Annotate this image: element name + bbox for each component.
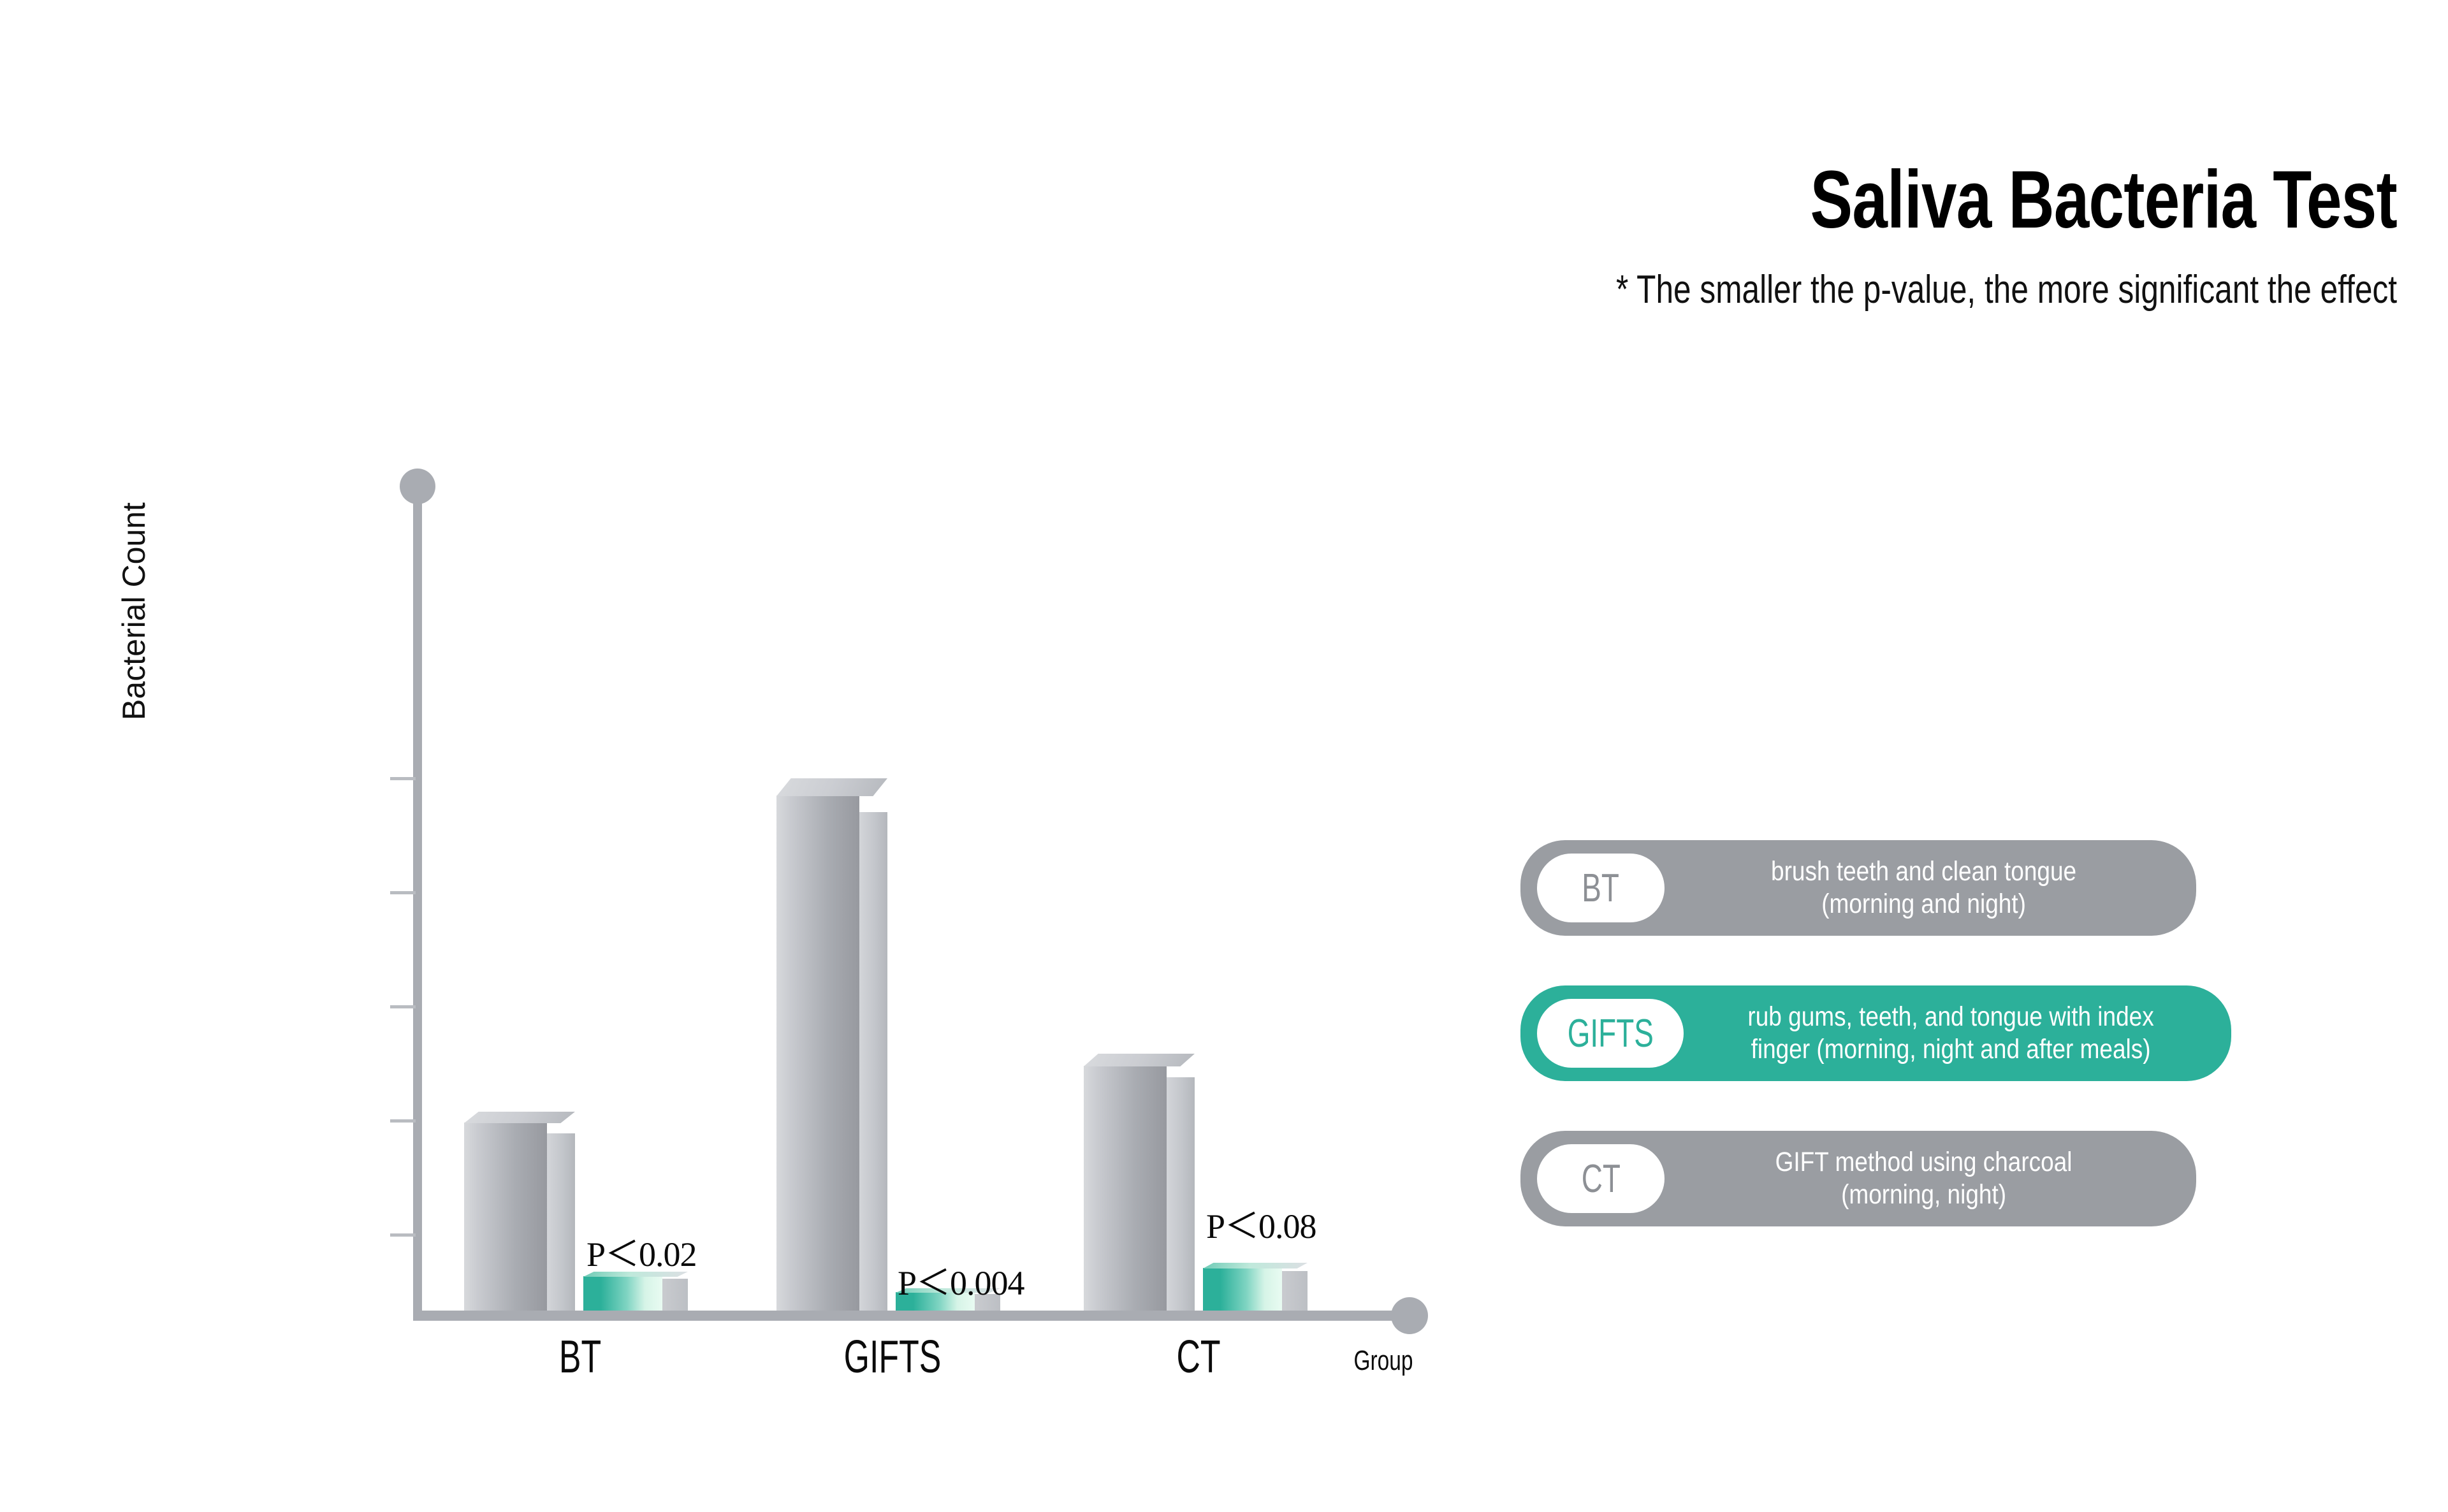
bar-top-face	[1203, 1263, 1308, 1268]
legend-item-bt[interactable]: BT brush teeth and clean tongue (morning…	[1520, 840, 2196, 936]
legend-badge-label: GIFTS	[1567, 1011, 1653, 1056]
y-axis-end-cap	[400, 469, 435, 504]
bar-front-face	[583, 1276, 662, 1311]
legend-desc-line-2: finger (morning, night and after meals)	[1728, 1033, 2175, 1066]
legend-desc-line-1: GIFT method using charcoal	[1707, 1146, 2140, 1179]
x-tick-label-bt: BT	[511, 1331, 649, 1383]
bar-top-face	[776, 778, 887, 796]
x-tick-label-ct: CT	[1130, 1331, 1267, 1383]
legend-badge-gifts: GIFTS	[1537, 999, 1684, 1068]
pvalue-bt: P＜0.02	[586, 1226, 697, 1276]
legend-description-gifts: rub gums, teeth, and tongue with index f…	[1721, 1001, 2177, 1065]
bar-ct-before	[1084, 1066, 1167, 1311]
bar-bt-after	[583, 1276, 662, 1311]
legend-desc-line-1: rub gums, teeth, and tongue with index	[1728, 1001, 2175, 1033]
legend-item-gifts[interactable]: GIFTS rub gums, teeth, and tongue with i…	[1520, 985, 2231, 1081]
y-tick-80000	[390, 891, 416, 894]
legend-desc-line-2: (morning, night)	[1707, 1179, 2140, 1211]
bar-top-face	[464, 1112, 575, 1123]
x-axis-end-cap	[1391, 1297, 1428, 1334]
bar-side-face	[1167, 1077, 1195, 1311]
legend-description-ct: GIFT method using charcoal (morning, nig…	[1701, 1146, 2144, 1210]
legend-badge-label: BT	[1582, 866, 1620, 911]
chart-plot-area: Bacterial Count 20000.0 40000.0 60000.0 …	[0, 0, 1479, 1512]
bar-bt-before	[464, 1123, 547, 1311]
x-tick-label-gifts: GIFTS	[824, 1331, 961, 1383]
y-axis-title: Bacterial Count	[115, 433, 152, 790]
bar-front-face	[1203, 1268, 1282, 1311]
legend-desc-line-1: brush teeth and clean tongue	[1707, 855, 2140, 888]
y-tick-100000	[390, 777, 416, 780]
legend-badge-label: CT	[1581, 1156, 1620, 1202]
bar-side-face	[859, 812, 887, 1311]
bar-front-face	[464, 1123, 547, 1311]
bar-ct-after	[1203, 1268, 1282, 1311]
pvalue-ct: P＜0.08	[1206, 1198, 1316, 1248]
legend-badge-ct: CT	[1537, 1144, 1665, 1213]
x-axis-title: Group	[1320, 1345, 1446, 1377]
y-axis-line	[413, 497, 422, 1319]
y-tick-40000	[390, 1119, 416, 1123]
y-tick-60000	[390, 1005, 416, 1008]
bar-side-face	[1282, 1271, 1308, 1311]
x-axis-line	[413, 1311, 1408, 1321]
bar-front-face	[776, 796, 859, 1311]
pvalue-gifts: P＜0.004	[898, 1254, 1024, 1305]
bar-top-face	[1084, 1054, 1195, 1066]
legend-description-bt: brush teeth and clean tongue (morning an…	[1701, 855, 2144, 920]
bar-side-face	[662, 1279, 688, 1311]
legend-item-ct[interactable]: CT GIFT method using charcoal (morning, …	[1520, 1131, 2196, 1226]
y-tick-20000	[390, 1233, 416, 1237]
legend-badge-bt: BT	[1537, 854, 1665, 922]
bar-front-face	[1084, 1066, 1167, 1311]
legend-desc-line-2: (morning and night)	[1707, 888, 2140, 920]
bar-side-face	[547, 1133, 575, 1311]
bar-gifts-before	[776, 796, 859, 1311]
